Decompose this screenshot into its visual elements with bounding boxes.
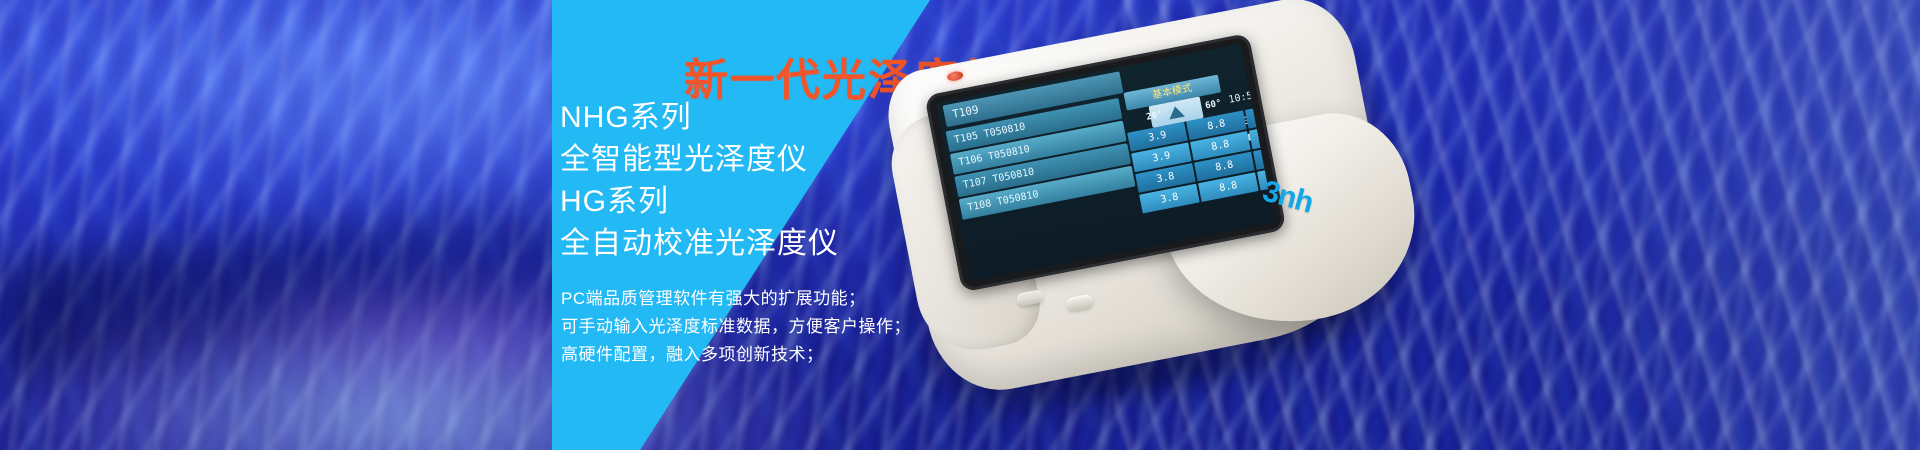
product-line-4: 全自动校准光泽度仪 <box>560 218 839 262</box>
product-line-3: HG系列 <box>560 176 669 220</box>
feature-bullet-2: 可手动输入光泽度标准数据，方便客户操作； <box>561 312 911 337</box>
promo-banner: 新一代光泽度仪 NHG系列 全智能型光泽度仪 HG系列 全自动校准光泽度仪 PC… <box>0 0 1920 450</box>
feature-bullet-3: 高硬件配置，融入多项创新技术； <box>561 340 824 365</box>
product-device: T109 基本模式 10:51 2019.05.08 T105 T050810 … <box>880 18 1440 438</box>
product-line-1: NHG系列 <box>560 92 692 136</box>
product-line-2: 全智能型光泽度仪 <box>560 134 808 178</box>
feature-bullet-1: PC端品质管理软件有强大的扩展功能； <box>561 284 866 309</box>
